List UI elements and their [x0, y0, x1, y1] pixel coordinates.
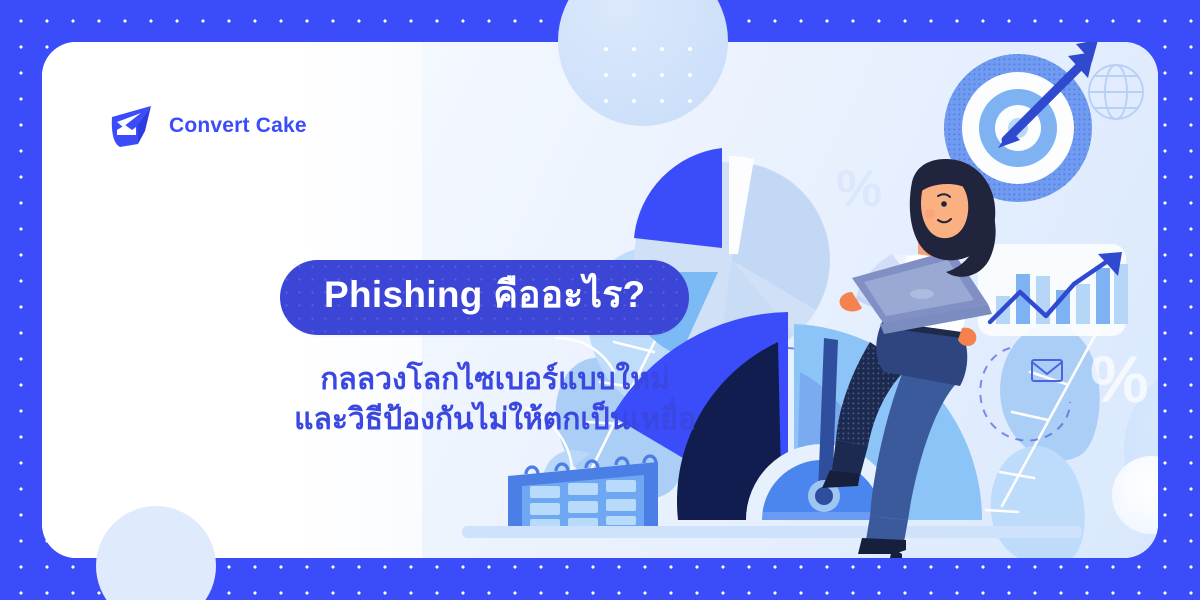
leaf-icon [986, 323, 1100, 558]
subtitle-line-2: และวิธีป้องกันไม่ให้ตกเป็นเหยื่อ [280, 400, 710, 440]
globe-icon [1089, 65, 1143, 119]
percent-icon: % [1090, 342, 1149, 416]
percent-icon: % [836, 160, 882, 218]
banner-card: % % [42, 42, 1158, 558]
decorative-dots-top [592, 36, 692, 106]
paper-plane-icon [108, 104, 156, 148]
ground-line [462, 526, 1082, 538]
subtitle-block: กลลวงโลกไซเบอร์แบบใหม่ และวิธีป้องกันไม่… [280, 360, 710, 440]
svg-text:%: % [836, 160, 882, 218]
svg-text:%: % [1090, 342, 1149, 416]
bar-chart-icon [978, 244, 1128, 336]
title-badge: Phishing คืออะไร? [280, 260, 689, 335]
banner-background: % % [0, 0, 1200, 600]
page-title: Phishing คืออะไร? [324, 276, 645, 315]
brand-name: Convert Cake [169, 114, 307, 138]
brand-logo[interactable]: Convert Cake [108, 104, 307, 148]
subtitle-line-1: กลลวงโลกไซเบอร์แบบใหม่ [280, 360, 710, 400]
